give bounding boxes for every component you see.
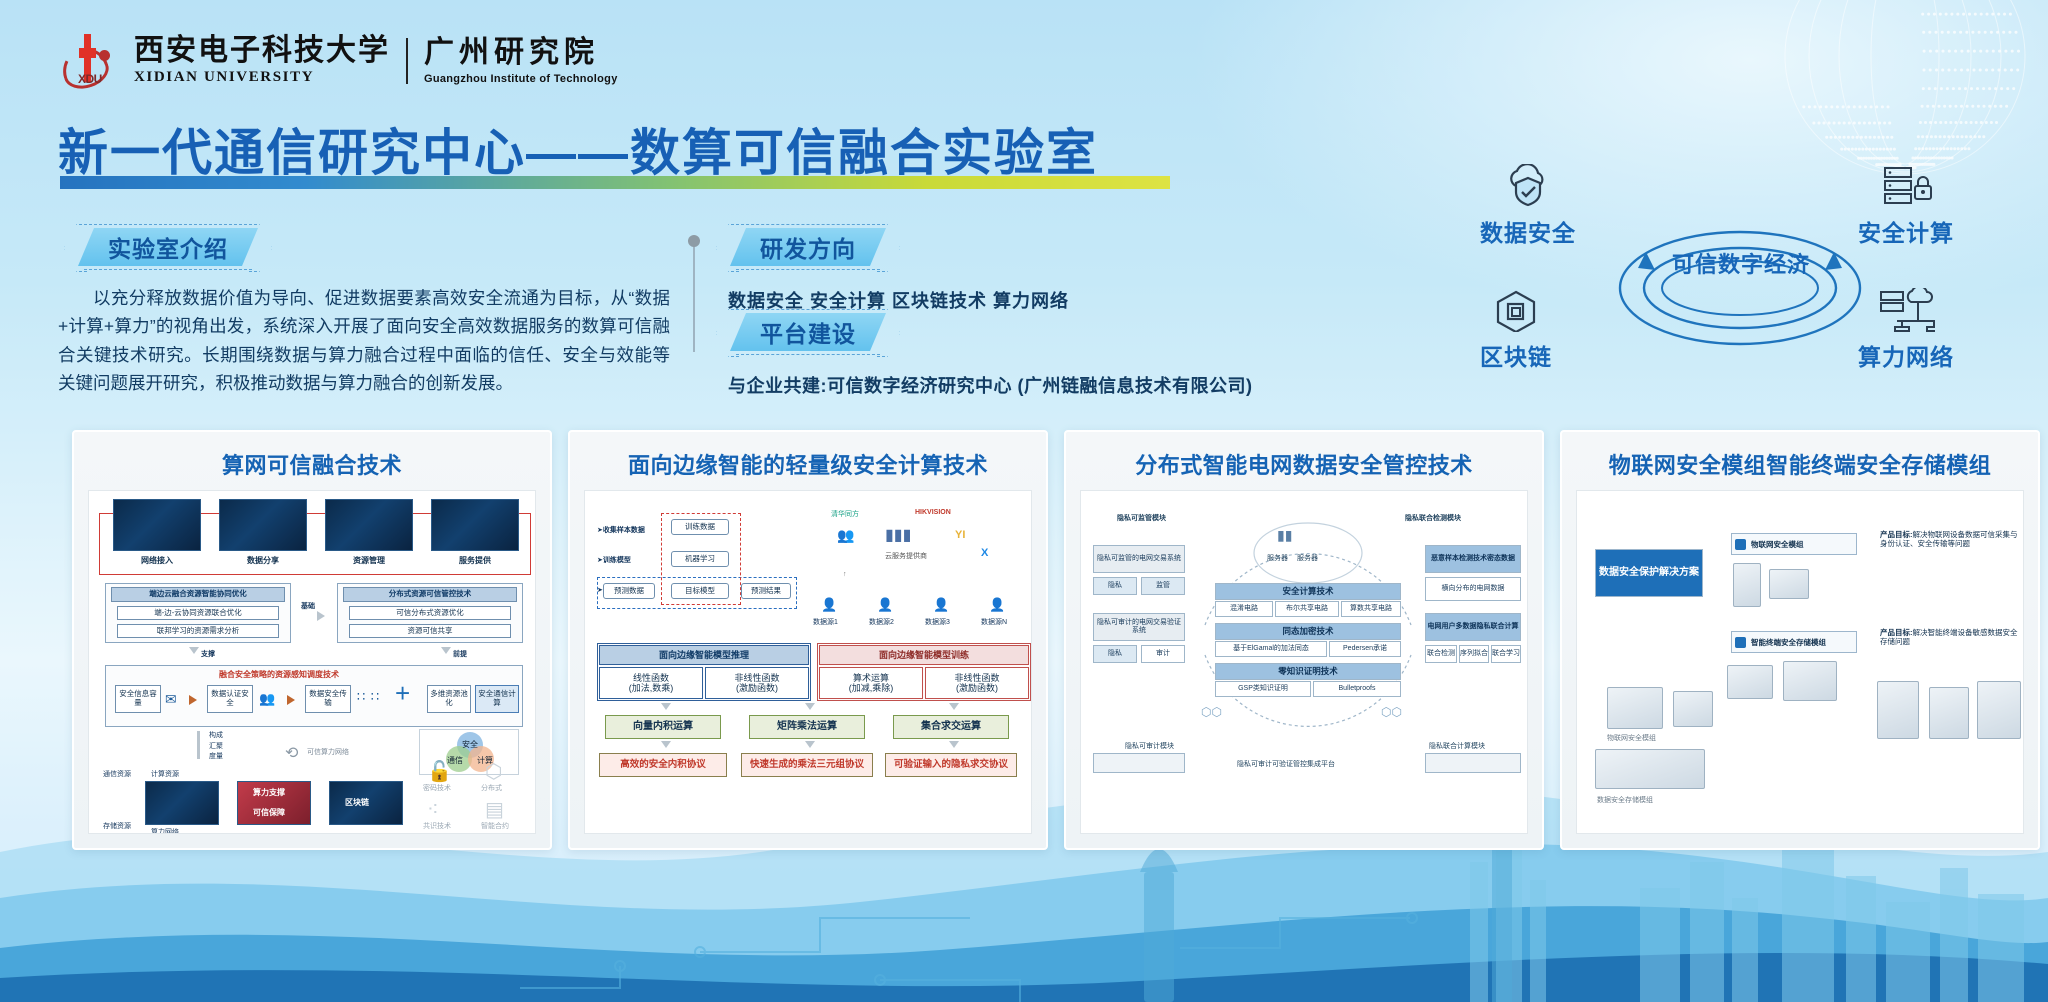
phone-device-icon <box>1733 563 1761 607</box>
users-icon: 👥 <box>259 691 275 707</box>
logo-divider <box>406 38 408 84</box>
thumb-label: 算力网络 <box>151 827 179 834</box>
server-lock-icon <box>1877 164 1935 208</box>
card-diagram: 隐私可监管模块 隐私联合检测模块 隐私可监管的电网交易系统 隐私 监管 隐私可审… <box>1080 490 1528 834</box>
thumb-network-photo-icon <box>145 781 219 825</box>
page-title: 新一代通信研究中心——数算可信融合实验室 <box>58 128 1098 178</box>
icon-row-label: 共识技术 <box>423 821 451 831</box>
flow-step: ➤训练模型 <box>597 555 631 565</box>
module-2-box: 智能终端安全存储模组 <box>1731 631 1857 653</box>
bullet: 度量 <box>209 753 223 760</box>
node-compute-network: 算力网络 <box>1858 288 1954 372</box>
module-1-label: 物联网安全模组 <box>1751 540 1804 549</box>
stack-item: GSP类知识证明 <box>1215 681 1311 697</box>
resource-label: 存储资源 <box>103 821 131 831</box>
lab-intro-body: 以充分释放数据价值为导向、促进数据要素高效安全流通为目标，从“数据+计算+算力”… <box>58 284 670 397</box>
module-left-title: 隐私可监管模块 <box>1117 513 1166 523</box>
left-box: 监管 <box>1141 577 1185 595</box>
down-arrow-icon <box>805 703 815 710</box>
thumb-label: 网络接入 <box>113 555 201 566</box>
left-box: 审计 <box>1141 645 1185 663</box>
module-chip-icon <box>1769 569 1809 599</box>
card-compute-network-trust[interactable]: 算网可信融合技术 网络接入 数据分享 资源管理 服务提供 端边云融合资源智能协同… <box>72 430 552 850</box>
left-box: 隐私可监管的电网交易系统 <box>1093 545 1185 573</box>
cloud-server-label: 服务器 <box>1297 553 1318 563</box>
module-bullet-icon <box>1735 539 1746 550</box>
goal-1: 产品目标:解决物联网设备数据可信采集与身份认证、安全传输等问题 <box>1877 527 2023 573</box>
right-box: 联合检测 <box>1425 645 1457 663</box>
training-col: 非线性函数 (激励函数) <box>925 667 1029 699</box>
institute-name-en: Guangzhou Institute of Technology <box>424 73 618 85</box>
circle-center-label: 可信数字经济 <box>1636 234 1846 292</box>
right-box: 联合学习 <box>1491 645 1521 663</box>
stack-item: 布尔共享电路 <box>1275 601 1339 617</box>
right-box: 恶意样本检测技术密态数据 <box>1425 545 1521 573</box>
flow-step: ➤收集样本数据 <box>597 525 645 535</box>
card-diagram: 数据安全保护解决方案 物联网安全模组 智能终端安全存储模组 产品目标:解决物联网… <box>1576 490 2024 834</box>
section-vertical-divider <box>693 244 695 352</box>
technology-cards-row: 算网可信融合技术 网络接入 数据分享 资源管理 服务提供 端边云融合资源智能协同… <box>0 430 2048 880</box>
terminal-device-icon <box>1783 661 1837 701</box>
logo-text: HIKVISION <box>915 509 951 516</box>
thumb-cloud-server-icon <box>325 499 413 551</box>
inference-col: 线性函数 (加法,数乘) <box>599 667 703 699</box>
user-icon: 👤 <box>933 597 949 613</box>
flow-box: 预测数据 <box>603 583 655 599</box>
goal-2: 产品目标:解决智能终端设备敏感数据安全存储问题 <box>1877 625 2023 671</box>
card-title: 分布式智能电网数据安全管控技术 <box>1066 432 1542 490</box>
node-label: 区块链 <box>1480 344 1552 370</box>
footer-box <box>1093 753 1185 773</box>
user-icon: 👤 <box>989 597 1005 613</box>
data-source-label: 数据源1 <box>813 617 838 627</box>
card-diagram: 网络接入 数据分享 资源管理 服务提供 端边云融合资源智能协同优化 端-边-云协… <box>88 490 536 834</box>
card-title: 面向边缘智能的轻量级安全计算技术 <box>570 432 1046 490</box>
down-arrow-icon <box>661 741 671 748</box>
flow-box: 预测结果 <box>741 583 791 599</box>
kiosk-device-icon <box>1877 681 1919 739</box>
icon-row-label: 密码技术 <box>423 783 451 793</box>
card-diagram: ➤收集样本数据 ➤训练模型 ➤预测新样本 训练数据 机器学习 预测数据 目标模型… <box>584 490 1032 834</box>
resource-label: 计算资源 <box>151 769 179 779</box>
trusted-digital-economy-diagram: 数据安全 区块链 安全计算 算力网络 <box>1470 200 2010 380</box>
thumb-laptops-share-icon <box>219 499 307 551</box>
stack-item: Bulletproofs <box>1313 681 1401 697</box>
user-icon: 👤 <box>821 597 837 613</box>
right-box: 横向分布的电网数据 <box>1425 577 1521 601</box>
goal-2-label: 产品目标: <box>1880 628 1913 637</box>
left-panel-item: 联邦学习的资源需求分析 <box>117 624 279 638</box>
bullet: 构成 <box>209 732 223 739</box>
card-edge-lightweight-secure-compute[interactable]: 面向边缘智能的轻量级安全计算技术 ➤收集样本数据 ➤训练模型 ➤预测新样本 训练… <box>568 430 1048 850</box>
stack-item: 算数共享电路 <box>1341 601 1401 617</box>
protocol-box: 可验证输入的隐私求交协议 <box>885 753 1017 777</box>
connector-label-basis: 基础 <box>301 601 315 611</box>
stack-header: 安全计算技术 <box>1215 583 1401 600</box>
storage-module-photo-icon <box>1595 749 1705 789</box>
rd-directions-heading: 研发方向 <box>730 228 886 266</box>
platform-text: 与企业共建:可信数字经济研究中心 (广州链融信息技术有限公司) <box>728 372 1252 398</box>
university-name-cn: 西安电子科技大学 <box>134 36 390 66</box>
footer-label: 隐私可审计可验证管控集成平台 <box>1237 759 1335 769</box>
svg-text:安全: 安全 <box>462 739 478 749</box>
plus-icon: + <box>395 683 410 704</box>
left-panel-header: 端边云融合资源智能协同优化 <box>111 587 285 602</box>
down-arrow-icon <box>661 703 671 710</box>
footer-label: 隐私联合计算模块 <box>1429 741 1485 751</box>
brand-logo-bar: XDU 西安电子科技大学 XIDIAN UNIVERSITY 广州研究院 Gua… <box>60 30 618 92</box>
card-title: 物联网安全模组智能终端安全存储模组 <box>1562 432 2038 490</box>
down-arrow-icon <box>805 741 815 748</box>
protocol-box: 快速生成的乘法三元组协议 <box>741 753 873 777</box>
right-box: 电网用户多数据隐私联合计算 <box>1425 613 1521 641</box>
users-group-icon: 👥 <box>837 527 854 544</box>
module-right-title: 隐私联合检测模块 <box>1405 513 1461 523</box>
logo-text: YI <box>955 529 965 541</box>
platform-pill-label: 平台建设 <box>730 313 886 351</box>
chain-item: 安全信息容量 <box>115 685 161 713</box>
left-panel-item: 端-边-云协同资源联合优化 <box>117 606 279 620</box>
thumb-label: 数据分享 <box>219 555 307 566</box>
page-title-block: 新一代通信研究中心——数算可信融合实验室 <box>58 128 1098 178</box>
right-panel-item: 可信分布式资源优化 <box>349 606 511 620</box>
chain-item: 数据安全传输 <box>305 685 351 713</box>
rd-directions-pill-label: 研发方向 <box>730 228 886 266</box>
node-secure-computing: 安全计算 <box>1858 164 1954 248</box>
cloud-server-label: 服务器 <box>1267 553 1288 563</box>
logo-text: 清华同方 <box>831 509 859 519</box>
node-label: 数据安全 <box>1480 220 1576 246</box>
plus-tail-item: 多维资源池化 <box>427 685 471 713</box>
pos-device-icon <box>1929 687 1969 739</box>
platform-heading: 平台建设 <box>730 313 886 351</box>
xidian-logo-icon: XDU <box>60 32 124 90</box>
footer-label: 隐私可审计模块 <box>1125 741 1174 751</box>
board-device-icon <box>1607 687 1663 729</box>
thumb-label: 区块链 <box>345 797 369 808</box>
contract-icon: ▤ <box>485 797 504 822</box>
module-bullet-icon <box>1735 637 1746 648</box>
down-arrow-icon <box>949 741 959 748</box>
mail-icon: ✉ <box>165 691 177 708</box>
hexagon-block-icon <box>1490 288 1542 332</box>
training-panel-header: 面向边缘智能模型训练 <box>819 645 1029 665</box>
cloud-provider-caption: 云服务提供商 <box>885 551 927 561</box>
chain-item: 数据认证安全 <box>207 685 253 713</box>
stack-item: 混淆电路 <box>1215 601 1273 617</box>
left-box: 隐私 <box>1093 645 1137 663</box>
server-cloud-network-icon <box>1877 288 1935 332</box>
caption-left: 物联网安全模组 <box>1607 733 1656 743</box>
stack-item: Pedersen承诺 <box>1329 641 1401 657</box>
premise-arrow-icon <box>441 647 451 654</box>
left-box: 隐私 <box>1093 577 1137 595</box>
module-1-box: 物联网安全模组 <box>1731 533 1857 555</box>
op-box: 矩阵乘法运算 <box>749 715 865 739</box>
stack-header: 零知识证明技术 <box>1215 663 1401 680</box>
flow-arrow-icon <box>287 695 295 705</box>
data-source-label: 数据源3 <box>925 617 950 627</box>
inference-col: 非线性函数 (激励函数) <box>705 667 809 699</box>
user-icon: 👤 <box>877 597 893 613</box>
thumb-label: 服务提供 <box>431 555 519 566</box>
footer-box <box>1425 753 1521 773</box>
caption-bottom: 数据安全存储模组 <box>1597 795 1653 805</box>
support-arrow-icon <box>189 647 199 654</box>
flow-box: 目标模型 <box>671 583 729 599</box>
card-smart-grid-data-security[interactable]: 分布式智能电网数据安全管控技术 隐私可监管模块 隐私联合检测模块 隐私可监管的电… <box>1064 430 1544 850</box>
module-2-label: 智能终端安全存储模组 <box>1751 638 1826 647</box>
bottom-panel-header: 融合安全策略的资源感知调度技术 <box>219 669 339 680</box>
node-label: 安全计算 <box>1858 220 1954 246</box>
lock-icon: 🔓 <box>427 759 452 784</box>
card-title: 算网可信融合技术 <box>74 432 550 490</box>
router-device-icon <box>1977 681 2021 739</box>
node-blockchain: 区块链 <box>1480 288 1552 372</box>
right-panel-header: 分布式资源可信管控技术 <box>343 587 517 602</box>
data-source-label: 数据源2 <box>869 617 894 627</box>
network-nodes-icon: ⬡⬡ <box>1201 705 1222 719</box>
flow-arrow-icon <box>189 695 197 705</box>
left-box: 隐私可审计的电网交易验证系统 <box>1093 613 1185 641</box>
op-box: 集合求交运算 <box>893 715 1009 739</box>
connector-label-support: 支撑 <box>201 649 215 659</box>
up-arrow-shaft <box>197 731 200 759</box>
institute-name-cn: 广州研究院 <box>424 38 618 68</box>
divider-knob-icon <box>688 235 700 247</box>
university-name-en: XIDIAN UNIVERSITY <box>134 69 390 86</box>
inference-panel-header: 面向边缘智能模型推理 <box>599 645 809 665</box>
thumb-globe-devices-icon <box>113 499 201 551</box>
connector-arrow-icon <box>317 611 325 621</box>
protocol-box: 高效的安全内积协议 <box>599 753 727 777</box>
down-arrow-icon <box>949 703 959 710</box>
goal-1-label: 产品目标: <box>1880 530 1913 539</box>
cloud-shield-check-icon <box>1502 164 1554 208</box>
server-rack-icon: ▮▮▮ <box>885 525 911 545</box>
stack-item: 基于ElGamal的加法同态 <box>1215 641 1327 657</box>
nodes-icon: ⁖ <box>427 797 439 822</box>
resource-label: 通信资源 <box>103 769 131 779</box>
solution-box: 数据安全保护解决方案 <box>1595 549 1703 597</box>
loop-label: 可信算力网络 <box>307 747 349 757</box>
right-box: 序列拟合 <box>1459 645 1489 663</box>
thumb-label: 可信保障 <box>253 807 285 818</box>
data-source-label: 数据源N <box>981 617 1007 627</box>
op-box: 向量内积运算 <box>605 715 721 739</box>
left-bullets: 构成 汇聚 度量 <box>209 731 223 763</box>
connector-label-premise: 前提 <box>453 649 467 659</box>
logo-text: X <box>981 547 988 559</box>
node-graph-icon: ⬡ <box>485 759 502 784</box>
bullet: 汇聚 <box>209 743 223 750</box>
stack-header: 同态加密技术 <box>1215 623 1401 640</box>
plus-tail-item: 安全通信计算 <box>475 685 519 713</box>
server-icon: ▮▮ <box>1277 527 1292 544</box>
node-label: 算力网络 <box>1858 344 1954 370</box>
sensor-device-icon <box>1673 691 1713 727</box>
lab-intro-heading: 实验室介绍 <box>78 228 258 266</box>
dot-matrix-icon: ∷ ∷ <box>357 689 380 705</box>
network-nodes-icon: ⬡⬡ <box>1381 705 1402 719</box>
icon-row-label: 智能合约 <box>481 821 509 831</box>
right-panel-item: 资源可信共享 <box>349 624 511 638</box>
thumb-data-matrix-icon <box>431 499 519 551</box>
lab-intro-pill-label: 实验室介绍 <box>78 228 258 266</box>
loop-arrow-icon: ⟲ <box>285 743 298 763</box>
node-data-security: 数据安全 <box>1480 164 1576 248</box>
card-iot-security-module[interactable]: 物联网安全模组智能终端安全存储模组 数据安全保护解决方案 物联网安全模组 智能终… <box>1560 430 2040 850</box>
thumb-label: 资源管理 <box>325 555 413 566</box>
training-col: 算术运算 (加减,乘除) <box>819 667 923 699</box>
icon-row-label: 分布式 <box>481 783 502 793</box>
thumb-label: 算力支撑 <box>253 787 285 798</box>
tablet-device-icon <box>1727 665 1773 699</box>
logo-mark-text: XDU <box>78 72 102 86</box>
arrow-up-label: ↑ <box>843 571 847 578</box>
